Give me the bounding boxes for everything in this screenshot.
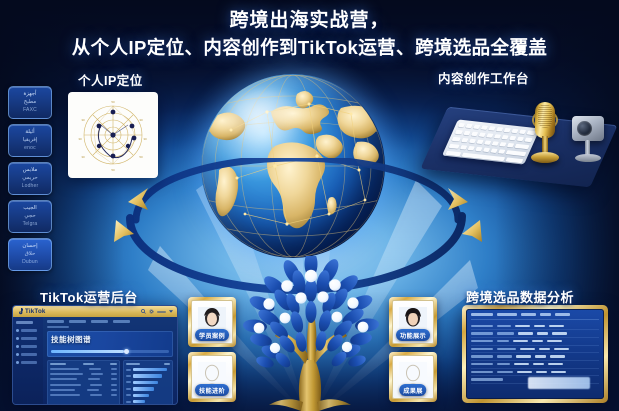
- cell-name: [50, 389, 75, 391]
- sidebar-bullet-icon: [16, 337, 19, 340]
- radar-tick: 30: [143, 137, 147, 141]
- badge-label: 技能进阶: [195, 384, 229, 396]
- tiktok-dashboard[interactable]: TikTok: [12, 305, 178, 405]
- cell-name: [471, 340, 493, 342]
- chip-line-2: مطبخ: [24, 99, 36, 107]
- user-menu[interactable]: [157, 311, 166, 313]
- chip-line-3: FAXC: [23, 107, 37, 114]
- dashboard-tabs[interactable]: [47, 320, 173, 323]
- brand-chip[interactable]: الجيب حجي Telgra: [8, 200, 52, 233]
- cell-category: [497, 348, 516, 350]
- cell-name: [471, 371, 493, 373]
- column-header-conversion: [555, 313, 570, 316]
- tiktok-logo[interactable]: TikTok: [17, 308, 46, 315]
- cell-rating: [534, 325, 545, 327]
- cell-conversion: [547, 340, 562, 342]
- chip-line-2: حريمي: [22, 175, 37, 183]
- chip-line-1: الجيب: [23, 205, 37, 213]
- sidebar-bullet-icon: [16, 329, 19, 332]
- cell-name: [50, 378, 77, 380]
- sidebar-bullet-icon: [16, 353, 19, 356]
- chip-line-3: Dubun: [22, 259, 38, 266]
- brand-chip[interactable]: أثيلة إفريقيا enoc: [8, 124, 52, 157]
- bar-row: [126, 374, 170, 377]
- cell-category: [497, 371, 513, 373]
- badge-label: 成果展: [399, 384, 426, 396]
- bar-label: [126, 388, 131, 390]
- cell-extra: [111, 368, 117, 370]
- table-selection-highlight: [528, 377, 590, 389]
- cell-sales: [516, 355, 531, 357]
- bar-label: [126, 375, 131, 377]
- cell-rating: [539, 348, 550, 350]
- bar-fill: [133, 394, 149, 397]
- cell-name: [471, 378, 503, 380]
- chip-line-2: إفريقيا: [23, 137, 38, 145]
- cell-conversion: [549, 325, 564, 327]
- cell-value: [89, 368, 101, 370]
- brand-chip[interactable]: إحسان حلاق Dubun: [8, 238, 52, 271]
- table-row[interactable]: [471, 338, 599, 346]
- chip-line-1: ملابس: [23, 167, 37, 175]
- cell-name: [471, 325, 493, 327]
- cell-sales: [520, 348, 535, 350]
- sidebar-bullet-icon: [16, 345, 19, 348]
- dashboard-sidebar[interactable]: [13, 317, 43, 405]
- list-item[interactable]: [50, 368, 117, 370]
- table-header-row: [471, 313, 599, 320]
- cell-extra: [111, 373, 117, 375]
- sidebar-item[interactable]: [16, 345, 40, 348]
- chip-line-3: enoc: [24, 145, 36, 152]
- list-item[interactable]: [50, 384, 117, 386]
- sidebar-item-label: [21, 337, 37, 339]
- cell-name: [50, 368, 79, 370]
- microphone-icon: [530, 102, 560, 178]
- bar-row: [126, 387, 170, 390]
- cell-conversion: [551, 371, 566, 373]
- poster-canvas: 跨境出海实战营， 从个人IP定位、内容创作到TikTok运营、跨境选品全覆盖 أ…: [0, 0, 619, 411]
- sidebar-item[interactable]: [16, 353, 40, 356]
- cell-sales: [517, 371, 532, 373]
- cell-category: [497, 340, 509, 342]
- table-row[interactable]: [471, 323, 599, 331]
- cell-value: [87, 389, 99, 391]
- bar-label: [126, 394, 131, 396]
- chip-line-2: حلاق: [25, 251, 36, 259]
- camera-base: [575, 154, 601, 162]
- progress-fill: [51, 350, 124, 352]
- cell-value: [90, 384, 102, 386]
- sidebar-item[interactable]: [16, 329, 40, 332]
- tab-item[interactable]: [47, 320, 64, 323]
- badge-frame: 成果展: [392, 355, 434, 399]
- cell-name: [471, 348, 493, 350]
- bar-chart-panel: [123, 360, 173, 405]
- tiktok-section-caption: TikTok运营后台: [40, 287, 138, 306]
- bar-fill: [133, 381, 158, 384]
- cell-category: [497, 363, 510, 365]
- list-item[interactable]: [50, 373, 117, 375]
- cell-conversion: [552, 332, 567, 334]
- column-header-sales: [521, 313, 536, 316]
- sidebar-item-label: [21, 353, 37, 355]
- bar-label: [126, 381, 131, 383]
- cell-value: [90, 394, 102, 396]
- column-header: [50, 363, 66, 365]
- cell-conversion: [550, 355, 565, 357]
- hero-title: 技能树图谱: [51, 334, 169, 345]
- ip-radar-card[interactable]: 50 30 30 50 50 30 30 30: [68, 92, 158, 178]
- radar-tick: 50: [111, 100, 115, 104]
- globe-graphic: [201, 74, 385, 258]
- bar-row: [126, 400, 170, 403]
- cell-extra: [111, 394, 117, 396]
- arabic-brand-chip-list: أجهزة مطبخ FAXC أثيلة إفريقيا enoc ملابس…: [8, 86, 54, 276]
- radar-tick: 50: [139, 155, 143, 159]
- studio-section-caption: 内容创作工作台: [438, 68, 529, 87]
- table-row[interactable]: [471, 369, 599, 377]
- cell-extra: [111, 384, 117, 386]
- camera-icon: [572, 116, 606, 168]
- mic-capsule: [535, 102, 555, 138]
- radar-chart: 50 30 30 50 50 30 30 30: [68, 92, 158, 178]
- panel-header: [126, 363, 170, 365]
- cell-conversion: [554, 348, 569, 350]
- cell-conversion: [548, 363, 563, 365]
- ip-section-caption: 个人IP定位: [78, 70, 143, 89]
- chevron-down-icon[interactable]: [169, 310, 173, 313]
- data-analysis-screen[interactable]: [462, 305, 608, 403]
- chip-line-1: أثيلة: [25, 129, 34, 137]
- radar-tick: 50: [111, 168, 115, 172]
- tiktok-brand-text: TikTok: [25, 308, 46, 315]
- list-item[interactable]: [50, 394, 117, 396]
- cell-name: [50, 384, 81, 386]
- globe-highlight: [227, 89, 308, 148]
- camera-lens: [577, 121, 592, 136]
- table-row[interactable]: [471, 346, 599, 354]
- cell-sales: [515, 325, 530, 327]
- sidebar-item[interactable]: [16, 361, 40, 364]
- tab-item[interactable]: [91, 320, 108, 323]
- mic-grille: [538, 104, 552, 128]
- cell-category: [497, 355, 512, 357]
- cell-name: [50, 394, 80, 396]
- badge-frame: 功能展示: [392, 300, 434, 344]
- badge-student-case[interactable]: 学员案例: [188, 297, 236, 347]
- cell-extra: [111, 389, 117, 391]
- bar-fill: [133, 368, 167, 371]
- dashboard-header: TikTok: [13, 306, 177, 317]
- tiktok-note-icon: [17, 308, 23, 315]
- data-table-panel: [466, 309, 604, 399]
- list-panel: [47, 360, 120, 405]
- title-line-2: 从个人IP定位、内容创作到TikTok运营、跨境选品全覆盖: [0, 36, 619, 61]
- cell-extra: [111, 378, 117, 380]
- column-header-rating: [540, 313, 551, 316]
- breadcrumb: [47, 326, 69, 328]
- bar-fill: [133, 374, 162, 377]
- table-row[interactable]: [471, 361, 599, 369]
- sidebar-item-label: [21, 345, 37, 347]
- bar-label: [126, 369, 131, 371]
- content-studio-graphic: [424, 86, 616, 194]
- bar-fill: [133, 387, 154, 390]
- cell-name: [471, 355, 493, 357]
- cell-category: [497, 332, 514, 334]
- cell-sales: [518, 332, 533, 334]
- radar-tick: 30: [78, 137, 82, 141]
- cell-sales: [514, 363, 529, 365]
- chip-line-1: أجهزة: [23, 91, 36, 99]
- badge-label: 学员案例: [195, 329, 229, 341]
- column-header: [83, 363, 94, 365]
- column-header-category: [497, 313, 517, 316]
- bar-row: [126, 381, 170, 384]
- cell-category: [497, 325, 511, 327]
- badge-label: 功能展示: [396, 329, 430, 341]
- progress-handle[interactable]: [124, 349, 129, 354]
- radar-tick: 30: [139, 118, 143, 122]
- table-row[interactable]: [471, 353, 599, 361]
- cell-sales: [513, 340, 528, 342]
- camera-body: [572, 116, 604, 141]
- column-header-name: [471, 313, 493, 316]
- panel-header: [50, 363, 117, 365]
- bar-label: [126, 401, 131, 403]
- table-row[interactable]: [471, 330, 599, 338]
- dashboard-main: 技能树图谱: [43, 317, 177, 405]
- cell-rating: [532, 340, 543, 342]
- sidebar-item[interactable]: [16, 337, 40, 340]
- skill-tree-graphic: [235, 256, 385, 411]
- chip-line-1: إحسان: [22, 243, 37, 251]
- badge-frame: 学员案例: [191, 300, 233, 344]
- badge-feature-show[interactable]: 功能展示: [389, 297, 437, 347]
- search-icon[interactable]: [141, 309, 146, 314]
- cell-value: [88, 378, 100, 380]
- badge-frame: 技能进阶: [191, 355, 233, 399]
- radar-tick: 30: [81, 155, 85, 159]
- chart-title: [126, 363, 140, 365]
- bar-row: [126, 368, 170, 371]
- sidebar-bullet-icon: [16, 361, 19, 364]
- chip-line-2: حجي: [24, 213, 35, 221]
- globe-sphere: [201, 74, 385, 258]
- dashboard-panels: [47, 360, 173, 405]
- skill-tree-hero: 技能树图谱: [47, 331, 173, 357]
- mic-base: [531, 152, 559, 163]
- title-line-1: 跨境出海实战营，: [0, 8, 619, 34]
- brand-chip[interactable]: ملابس حريمي Lodher: [8, 162, 52, 195]
- column-header: [110, 363, 117, 365]
- tab-item[interactable]: [69, 320, 86, 323]
- cell-rating: [537, 332, 548, 334]
- cell-rating: [533, 363, 544, 365]
- brand-chip[interactable]: أجهزة مطبخ FAXC: [8, 86, 52, 119]
- progress-bar[interactable]: [51, 350, 169, 352]
- gear-icon[interactable]: [149, 309, 154, 314]
- tab-item[interactable]: [113, 320, 130, 323]
- cell-rating: [536, 371, 547, 373]
- cell-name: [50, 373, 83, 375]
- chip-line-3: Lodher: [22, 183, 39, 190]
- badge-result-show[interactable]: 成果展: [389, 352, 437, 402]
- radar-tick: 30: [81, 118, 85, 122]
- list-item[interactable]: [50, 389, 117, 391]
- data-section-caption: 跨境选品数据分析: [466, 287, 574, 306]
- dashboard-body: 技能树图谱: [13, 317, 177, 405]
- cell-name: [471, 332, 493, 334]
- dashboard-header-actions: [141, 309, 173, 314]
- sidebar-title: [16, 321, 33, 324]
- sidebar-item-label: [21, 361, 37, 363]
- bar-row: [126, 394, 170, 397]
- bar-fill: [133, 400, 145, 403]
- chart-meta: [164, 363, 170, 365]
- cell-rating: [535, 355, 546, 357]
- badge-skill-advance[interactable]: 技能进阶: [188, 352, 236, 402]
- chip-line-3: Telgra: [23, 221, 38, 228]
- list-item[interactable]: [50, 378, 117, 380]
- sidebar-item-label: [21, 329, 37, 331]
- cell-value: [91, 373, 103, 375]
- poster-title: 跨境出海实战营， 从个人IP定位、内容创作到TikTok运营、跨境选品全覆盖: [0, 8, 619, 61]
- cell-name: [471, 363, 493, 365]
